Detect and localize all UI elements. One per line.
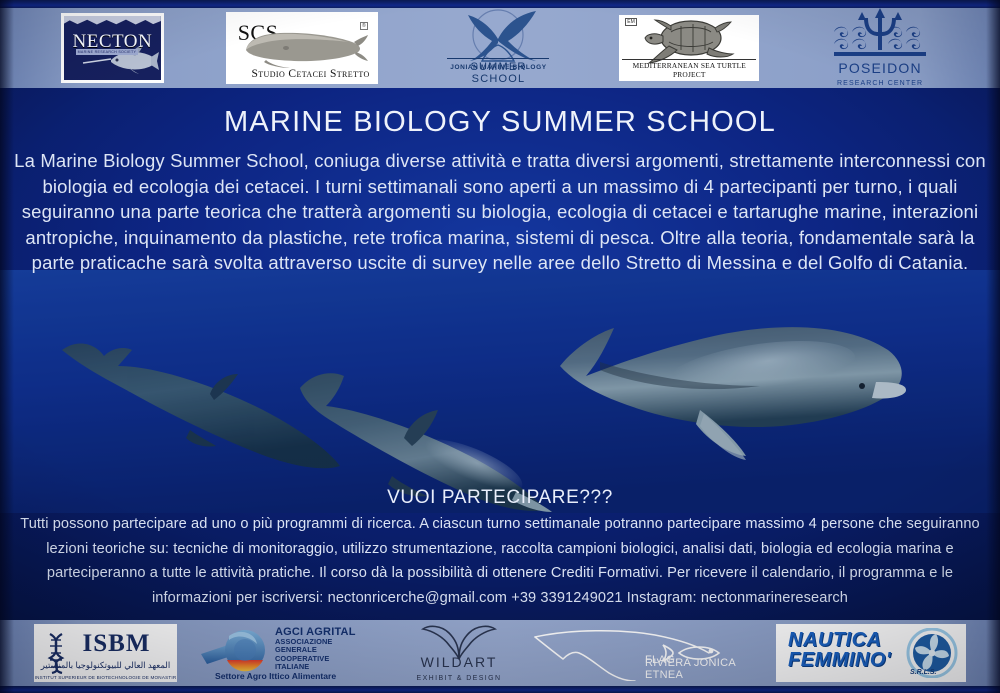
sea-turtle-icon (635, 18, 741, 64)
logo-poseidon-research-center[interactable]: POSEIDON RESEARCH CENTER (821, 8, 939, 88)
isbm-acronym: ISBM (34, 630, 177, 658)
trident-waves-icon (828, 6, 932, 62)
necton-plate: NECTON MARINE RESEARCH SOCIETY (64, 16, 161, 80)
logo-flag-riviera-jonica-etnea[interactable]: FLAG RIVIERA JONICA ETNEA (531, 623, 756, 683)
wave-crest-icon (64, 16, 161, 25)
wildart-name: WILDART (407, 654, 511, 670)
necton-wordmark: NECTON (73, 32, 153, 51)
logo-necton[interactable]: NECTON MARINE RESEARCH SOCIETY (61, 13, 164, 83)
logo-isbm[interactable]: ISBM المعهد العالي للبيوتكنولوجيا بالمنس… (34, 624, 177, 682)
poseidon-line2: RESEARCH CENTER (821, 80, 939, 87)
details-paragraph: Tutti possono partecipare ad uno o più p… (14, 512, 986, 610)
poseidon-line1: POSEIDON (821, 60, 939, 76)
logo-sea-turtle-project[interactable]: EM MEDITERRANEAN SEA TURTLE PROJECT (619, 15, 759, 81)
nautica-line1: NAUTICA (788, 630, 882, 650)
agci-tagline: Settore Agro Ittico Alimentare (215, 671, 336, 681)
nautica-line2: FEMMINO' (788, 650, 891, 670)
necton-subtitle: MARINE RESEARCH SOCIETY (76, 49, 138, 55)
isbm-french-name: INSTITUT SUPERIEUR DE BIOTECHNOLOGIE DE … (34, 675, 177, 680)
whale-fluke-icon (452, 9, 544, 65)
dolphins-photo (0, 270, 1000, 513)
wildart-tagline: EXHIBIT & DESIGN (407, 675, 511, 682)
isbm-arabic-name: المعهد العالي للبيوتكنولوجيا بالمنستير (34, 660, 177, 671)
logo-wildart[interactable]: WILDART EXHIBIT & DESIGN (407, 623, 511, 683)
logo-jonian-summer-school[interactable]: JONIAN MARINE BIOLOGY SUMMER SCHOOL (439, 9, 557, 87)
turtle-caption: MEDITERRANEAN SEA TURTLE PROJECT (622, 59, 756, 79)
partner-logo-bar-top: NECTON MARINE RESEARCH SOCIETY SCS ® (0, 8, 1000, 88)
call-to-action-heading: VUOI PARTECIPARE??? (0, 487, 1000, 509)
flag-line2: RIVIERA JONICA ETNEA (645, 657, 756, 681)
scs-caption: Studio Cetacei Stretto (251, 68, 369, 80)
page-title: MARINE BIOLOGY SUMMER SCHOOL (0, 106, 1000, 139)
logo-agci-agrital[interactable]: AGCI AGRITAL ASSOCIAZIONE GENERALE COOPE… (197, 624, 387, 682)
agci-text-block: AGCI AGRITAL ASSOCIAZIONE GENERALE COOPE… (275, 626, 356, 672)
logo-nautica-femmino[interactable]: NAUTICA FEMMINO' S.R.L.S. (776, 624, 966, 682)
sperm-whale-icon (240, 26, 368, 70)
logo-studio-cetacei-stretto[interactable]: SCS ® Studio Cetacei Stretto (226, 12, 378, 84)
bottom-bar-edge (0, 686, 1000, 693)
partner-logo-bar-bottom: ISBM المعهد العالي للبيوتكنولوجيا بالمنس… (0, 620, 1000, 686)
poster-canvas: MARINE BIOLOGY SUMMER SCHOOL La Marine B… (0, 0, 1000, 693)
nautica-suffix: S.R.L.S. (910, 669, 936, 676)
intro-paragraph: La Marine Biology Summer School, coniuga… (12, 148, 988, 276)
jmb-line2: SUMMER SCHOOL (447, 58, 549, 85)
